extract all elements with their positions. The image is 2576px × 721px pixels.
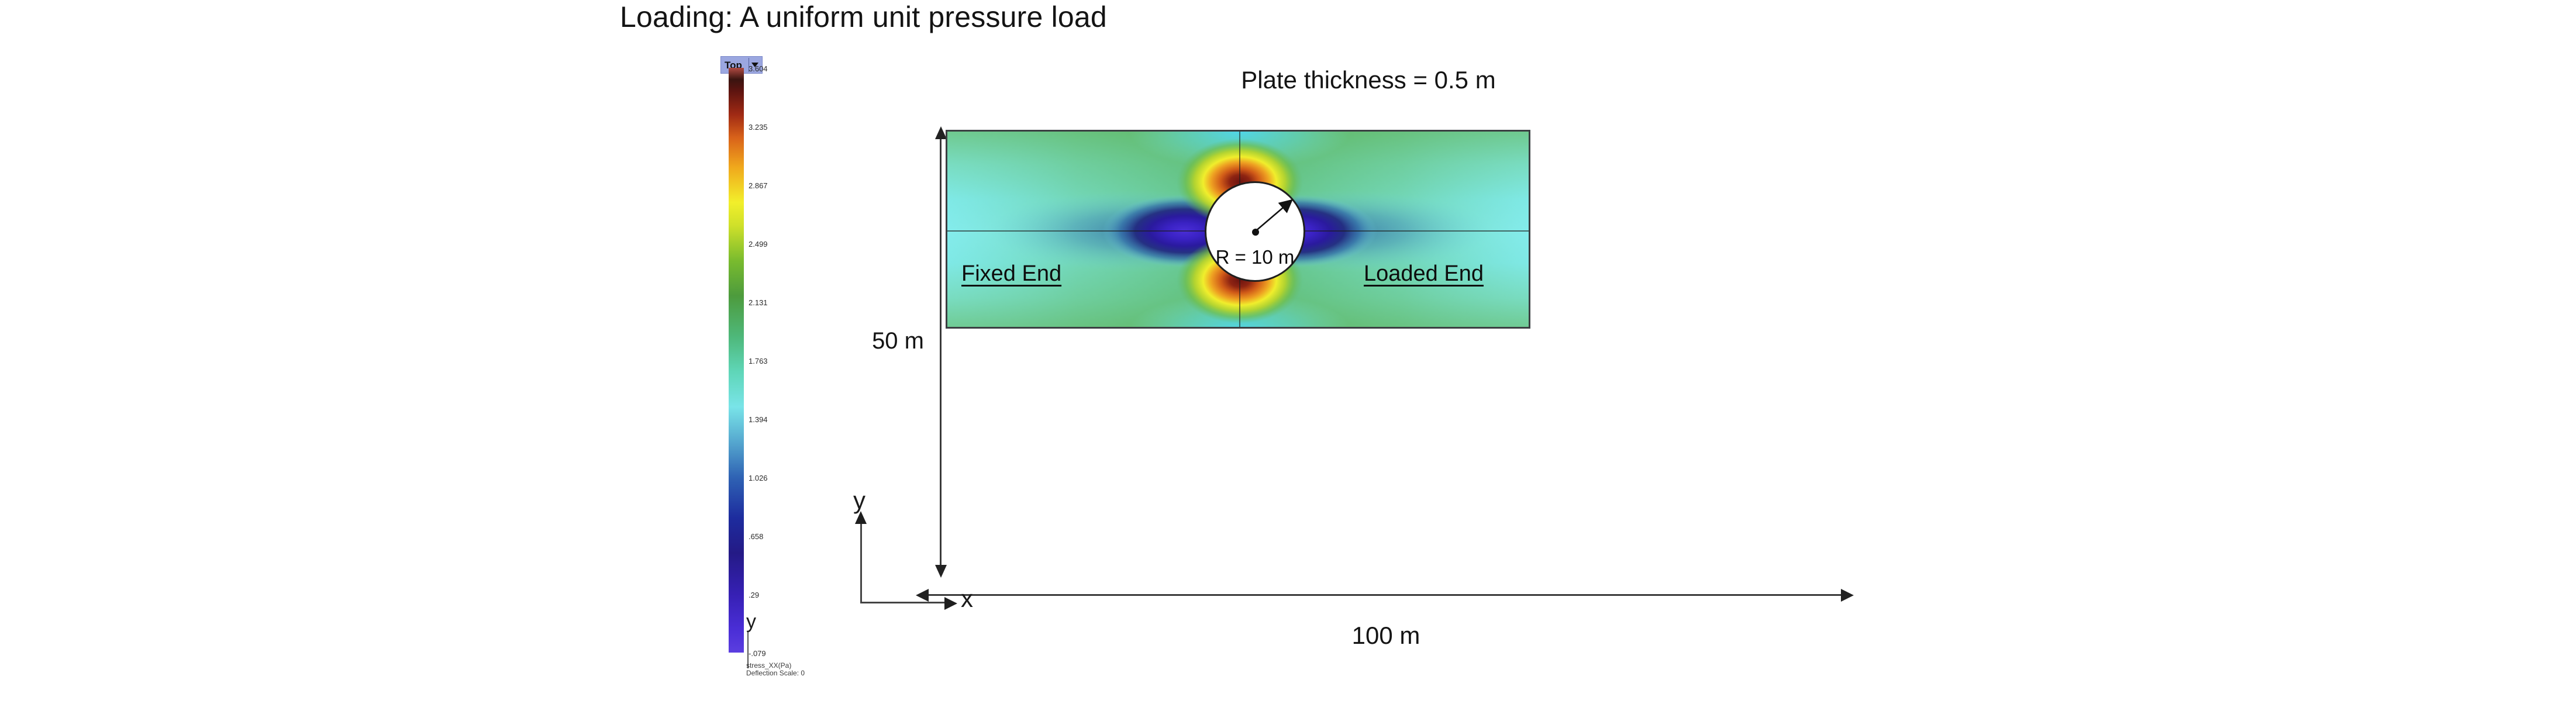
legend-axis-y-label: y — [746, 612, 756, 632]
colorbar-tick-label: .658 — [749, 532, 836, 541]
page-title: Loading: A uniform unit pressure load — [620, 0, 1556, 34]
hole-radius-label: R = 10 m — [1205, 246, 1305, 268]
colorbar-tick-label: 1.394 — [749, 415, 836, 425]
hole-center-dot — [1252, 229, 1259, 236]
colorbar-tick-label: 2.499 — [749, 240, 836, 249]
contour-plot: 50 m 100 m y x — [912, 117, 1860, 620]
axis-triad: y x — [845, 491, 1020, 643]
colorbar-tick-label: .29 — [749, 591, 836, 600]
width-dimension-line — [925, 594, 1849, 596]
width-dimension-arrow-right — [1841, 589, 1854, 602]
axis-y-line — [860, 522, 862, 603]
colorbar-tick-label: -.079 — [749, 649, 836, 658]
colorbar-tick-label: 2.131 — [749, 298, 836, 308]
axis-x-label: x — [961, 585, 973, 613]
colorbar-gradient — [729, 68, 744, 653]
colorbar-tick-label: 2.867 — [749, 181, 836, 191]
plate-geometry: R = 10 m Fixed End Loaded End — [946, 130, 1530, 329]
color-legend: Top 3.604 3.235 2.867 2.499 2.131 1.763 … — [720, 56, 855, 682]
height-dimension-arrow-up — [935, 126, 947, 139]
height-dimension-label: 50 m — [795, 327, 924, 354]
legend-quantity-label: stress_XX(Pa) — [746, 661, 791, 670]
loaded-end-label: Loaded End — [1364, 260, 1484, 287]
stress-field: R = 10 m Fixed End Loaded End — [946, 130, 1530, 329]
width-dimension-label: 100 m — [1181, 621, 1591, 650]
fixed-end-label: Fixed End — [961, 260, 1061, 287]
axis-x-line — [860, 602, 948, 603]
legend-deflection-scale-label: Deflection Scale: 0 — [746, 670, 875, 677]
colorbar-tick-label: 3.604 — [749, 64, 836, 74]
colorbar-tick-label: 1.026 — [749, 474, 836, 483]
plate-thickness-title: Plate thickness = 0.5 m — [1181, 65, 1556, 95]
legend-caption: stress_XX(Pa) Deflection Scale: 0 — [746, 662, 875, 677]
colorbar-tick-label: 1.763 — [749, 357, 836, 366]
colorbar-tick-label: 3.235 — [749, 123, 836, 132]
axis-x-arrow-icon — [944, 597, 957, 610]
axis-y-label: y — [853, 487, 865, 515]
